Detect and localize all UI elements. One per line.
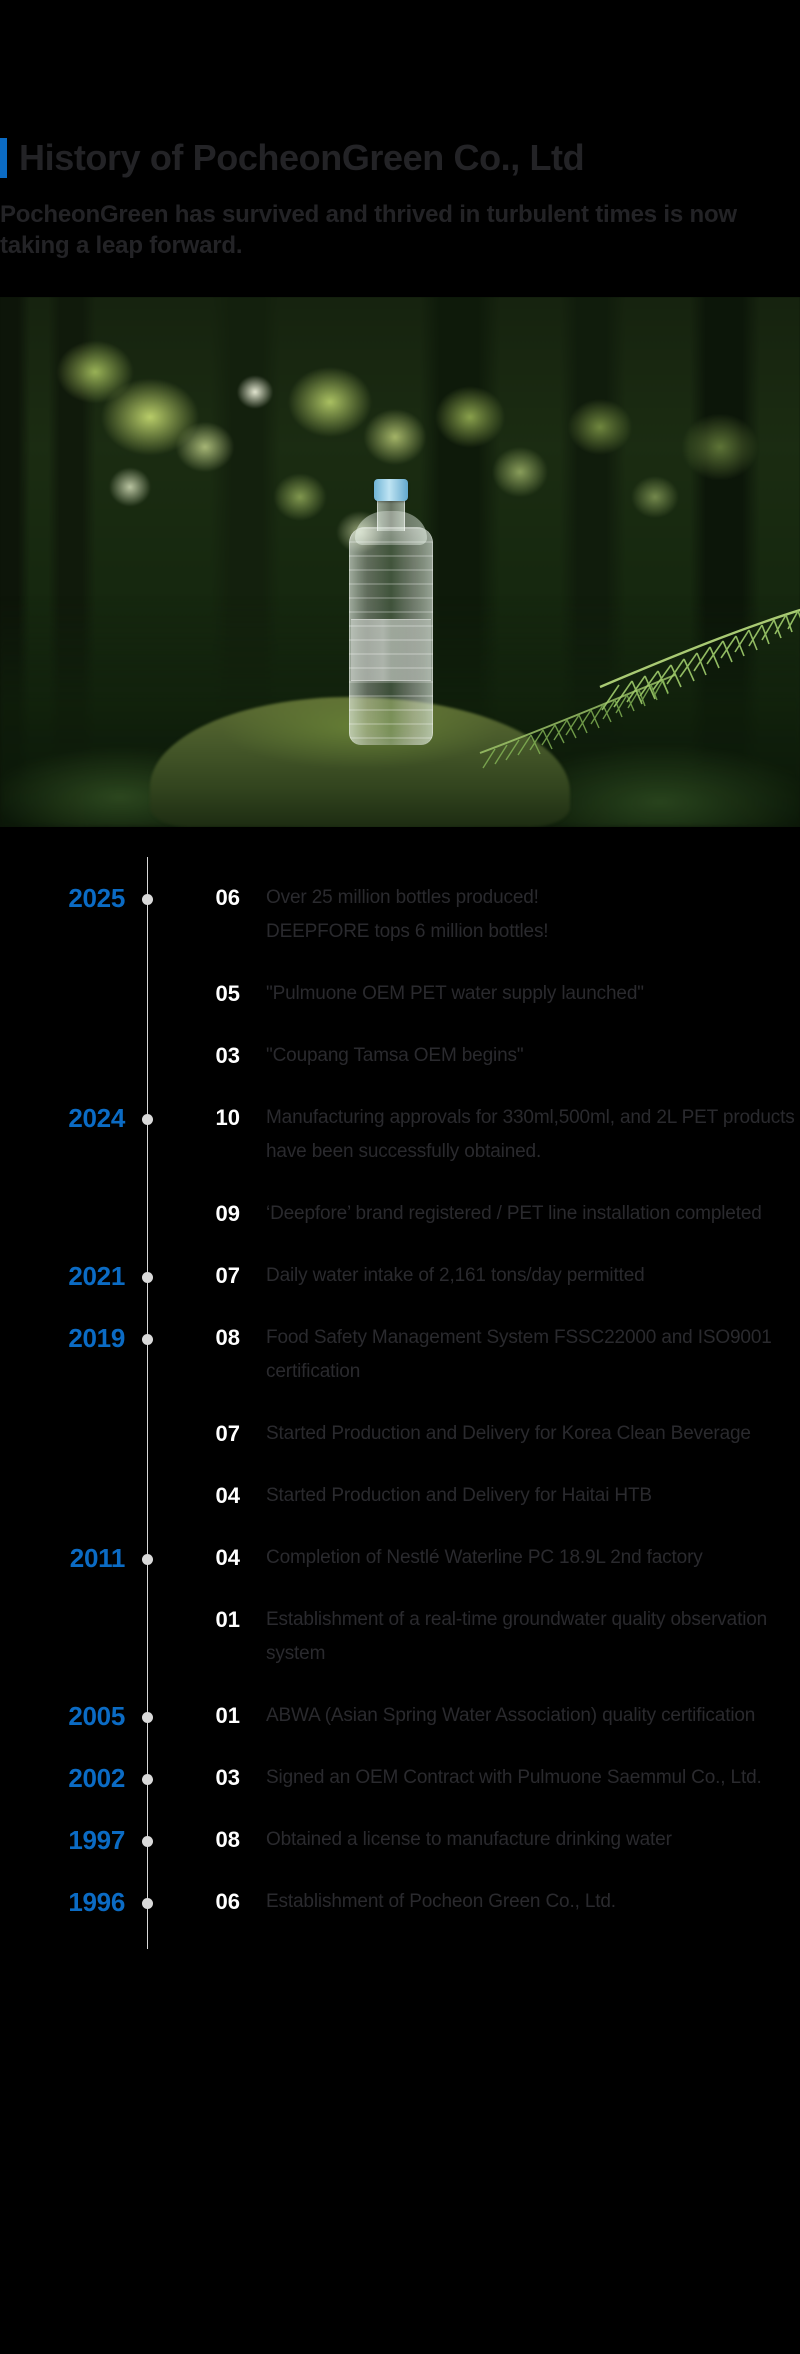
timeline-events: 03Signed an OEM Contract with Pulmuone S…	[147, 1761, 800, 1823]
timeline-year-column: 2002	[0, 1761, 147, 1795]
timeline-event: 03Signed an OEM Contract with Pulmuone S…	[194, 1761, 800, 1795]
timeline-event-description: Daily water intake of 2,161 tons/day per…	[240, 1259, 645, 1293]
timeline-event: 01Establishment of a real-time groundwat…	[194, 1603, 800, 1671]
timeline-month-label: 06	[194, 881, 240, 915]
hero-image	[0, 297, 800, 827]
timeline-year-column: 2005	[0, 1699, 147, 1733]
timeline-group: 200501ABWA (Asian Spring Water Associati…	[0, 1699, 800, 1761]
timeline-year-label: 2025	[0, 881, 125, 915]
timeline-year-column: 1996	[0, 1885, 147, 1919]
timeline-event: 04Started Production and Delivery for Ha…	[194, 1479, 800, 1513]
accent-bar-icon	[0, 138, 7, 178]
history-timeline: 202506Over 25 million bottles produced!D…	[0, 827, 800, 1949]
timeline-event: 10Manufacturing approvals for 330ml,500m…	[194, 1101, 800, 1169]
timeline-event-description: Manufacturing approvals for 330ml,500ml,…	[240, 1101, 800, 1169]
timeline-events: 08Food Safety Management System FSSC2200…	[147, 1321, 800, 1541]
timeline-year-column: 2024	[0, 1101, 147, 1135]
timeline-event: 07Started Production and Delivery for Ko…	[194, 1417, 800, 1451]
timeline-month-label: 06	[194, 1885, 240, 1919]
timeline-year-label: 2019	[0, 1321, 125, 1355]
timeline-group: 199708Obtained a license to manufacture …	[0, 1823, 800, 1885]
timeline-month-label: 03	[194, 1761, 240, 1795]
timeline-year-column: 2025	[0, 881, 147, 915]
timeline-event: 08Food Safety Management System FSSC2200…	[194, 1321, 800, 1389]
timeline-year-label: 2024	[0, 1101, 125, 1135]
timeline-event-description: Completion of Nestlé Waterline PC 18.9L …	[240, 1541, 703, 1575]
timeline-event-description: Establishment of Pocheon Green Co., Ltd.	[240, 1885, 616, 1919]
timeline-event: 01ABWA (Asian Spring Water Association) …	[194, 1699, 800, 1733]
timeline-event-description: Establishment of a real-time groundwater…	[240, 1603, 800, 1671]
timeline-month-label: 08	[194, 1321, 240, 1355]
timeline-year-label: 1996	[0, 1885, 125, 1919]
timeline-year-column: 2021	[0, 1259, 147, 1293]
timeline-event-description: Signed an OEM Contract with Pulmuone Sae…	[240, 1761, 762, 1795]
timeline-month-label: 05	[194, 977, 240, 1011]
timeline-month-label: 01	[194, 1699, 240, 1733]
pet-water-bottle	[349, 473, 433, 745]
timeline-event-description: ‘Deepfore’ brand registered / PET line i…	[240, 1197, 762, 1231]
timeline-group: 202107Daily water intake of 2,161 tons/d…	[0, 1259, 800, 1321]
timeline-month-label: 09	[194, 1197, 240, 1231]
timeline-event-description: Food Safety Management System FSSC22000 …	[240, 1321, 800, 1389]
timeline-year-label: 2005	[0, 1699, 125, 1733]
timeline-event: 07Daily water intake of 2,161 tons/day p…	[194, 1259, 800, 1293]
timeline-month-label: 08	[194, 1823, 240, 1857]
timeline-group: 200203Signed an OEM Contract with Pulmuo…	[0, 1761, 800, 1823]
page-header: History of PocheonGreen Co., Ltd Pocheon…	[0, 0, 800, 261]
timeline-month-label: 04	[194, 1541, 240, 1575]
timeline-year-column: 2019	[0, 1321, 147, 1355]
timeline-event-description: Obtained a license to manufacture drinki…	[240, 1823, 672, 1857]
timeline-year-label: 2011	[0, 1541, 125, 1575]
timeline-group: 199606Establishment of Pocheon Green Co.…	[0, 1885, 800, 1919]
timeline-month-label: 07	[194, 1259, 240, 1293]
timeline-events: 10Manufacturing approvals for 330ml,500m…	[147, 1101, 800, 1259]
timeline-event: 06Over 25 million bottles produced!DEEPF…	[194, 881, 800, 949]
timeline-event-description: "Coupang Tamsa OEM begins"	[240, 1039, 523, 1073]
timeline-events: 01ABWA (Asian Spring Water Association) …	[147, 1699, 800, 1761]
timeline-year-column: 2011	[0, 1541, 147, 1575]
timeline-event-description: Started Production and Delivery for Kore…	[240, 1417, 751, 1451]
timeline-group: 202410Manufacturing approvals for 330ml,…	[0, 1101, 800, 1259]
timeline-month-label: 03	[194, 1039, 240, 1073]
timeline-group: 201104Completion of Nestlé Waterline PC …	[0, 1541, 800, 1699]
timeline-event-description: ABWA (Asian Spring Water Association) qu…	[240, 1699, 755, 1733]
timeline-event-description: Started Production and Delivery for Hait…	[240, 1479, 652, 1513]
page-title: History of PocheonGreen Co., Ltd	[19, 138, 584, 178]
timeline-month-label: 10	[194, 1101, 240, 1135]
timeline-events: 06Over 25 million bottles produced!DEEPF…	[147, 881, 800, 1101]
timeline-event: 06Establishment of Pocheon Green Co., Lt…	[194, 1885, 800, 1919]
timeline-event: 09‘Deepfore’ brand registered / PET line…	[194, 1197, 800, 1231]
timeline-events: 04Completion of Nestlé Waterline PC 18.9…	[147, 1541, 800, 1699]
timeline-event: 03"Coupang Tamsa OEM begins"	[194, 1039, 800, 1073]
timeline-group: 201908Food Safety Management System FSSC…	[0, 1321, 800, 1541]
timeline-year-label: 2021	[0, 1259, 125, 1293]
timeline-events: 08Obtained a license to manufacture drin…	[147, 1823, 800, 1885]
timeline-month-label: 07	[194, 1417, 240, 1451]
title-row: History of PocheonGreen Co., Ltd	[0, 138, 800, 178]
timeline-year-label: 1997	[0, 1823, 125, 1857]
timeline-event: 08Obtained a license to manufacture drin…	[194, 1823, 800, 1857]
timeline-month-label: 04	[194, 1479, 240, 1513]
timeline-month-label: 01	[194, 1603, 240, 1637]
timeline-group: 202506Over 25 million bottles produced!D…	[0, 881, 800, 1101]
timeline-event: 05"Pulmuone OEM PET water supply launche…	[194, 977, 800, 1011]
timeline-event: 04Completion of Nestlé Waterline PC 18.9…	[194, 1541, 800, 1575]
timeline-year-label: 2002	[0, 1761, 125, 1795]
bottle-cap	[374, 479, 408, 501]
timeline-event-description: "Pulmuone OEM PET water supply launched"	[240, 977, 644, 1011]
timeline-events: 07Daily water intake of 2,161 tons/day p…	[147, 1259, 800, 1321]
page-subtitle: PocheonGreen has survived and thrived in…	[0, 200, 740, 261]
timeline-event-description: Over 25 million bottles produced!DEEPFOR…	[240, 881, 548, 949]
bottle-neck	[377, 497, 405, 531]
timeline-year-column: 1997	[0, 1823, 147, 1857]
bottle-label	[351, 619, 431, 681]
timeline-events: 06Establishment of Pocheon Green Co., Lt…	[147, 1885, 800, 1919]
